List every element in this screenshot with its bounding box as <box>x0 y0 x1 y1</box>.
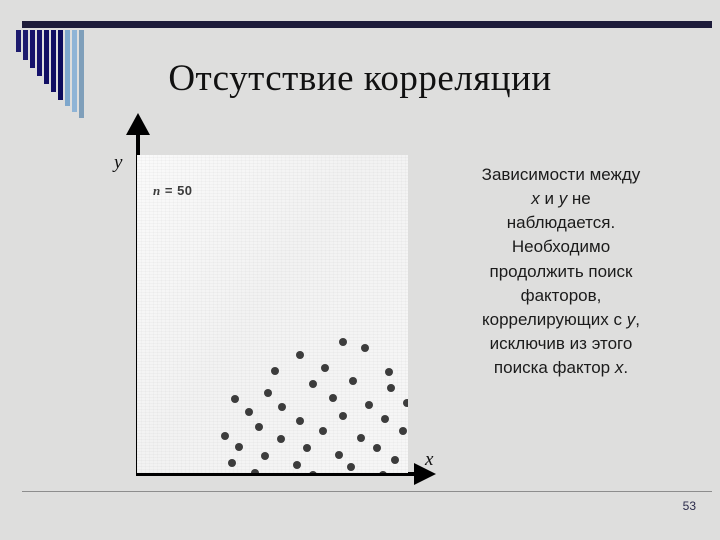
scatter-point <box>264 389 272 397</box>
scatter-point <box>245 408 253 416</box>
scatter-point <box>309 471 317 473</box>
scatter-point <box>278 403 286 411</box>
scatter-point <box>251 469 259 473</box>
scatter-point <box>357 434 365 442</box>
scatter-point <box>231 395 239 403</box>
commentary-line-3: наблюдается. <box>507 213 615 232</box>
commentary-line-2-mid: и <box>540 189 559 208</box>
scatter-point <box>339 412 347 420</box>
scatter-point <box>385 368 393 376</box>
decorative-bar-1 <box>16 30 21 52</box>
commentary-line-1: Зависимости между <box>482 165 641 184</box>
scatter-point <box>221 432 229 440</box>
scatter-point <box>329 394 337 402</box>
scatter-point <box>349 377 357 385</box>
scatter-point <box>277 435 285 443</box>
commentary-text: Зависимости между x и y не наблюдается. … <box>430 163 692 380</box>
top-accent-rule <box>22 21 712 28</box>
scatter-point <box>379 471 387 473</box>
scatter-point <box>293 461 301 469</box>
sample-size-annotation: n = 50 <box>153 183 193 199</box>
commentary-line-5: продолжить поиск <box>490 262 633 281</box>
scatter-point <box>296 417 304 425</box>
commentary-line-9-post: . <box>623 358 628 377</box>
bottom-divider <box>22 491 712 492</box>
commentary-var-y-2: y <box>627 310 636 329</box>
commentary-var-y-1: y <box>559 189 568 208</box>
scatter-point <box>271 367 279 375</box>
commentary-var-x-1: x <box>531 189 540 208</box>
scatter-point <box>235 443 243 451</box>
scatter-point <box>335 451 343 459</box>
scatter-point <box>303 444 311 452</box>
scatter-point <box>228 459 236 467</box>
scatter-point <box>319 427 327 435</box>
scatter-point <box>321 364 329 372</box>
commentary-line-6: факторов, <box>521 286 602 305</box>
scatter-point <box>387 384 395 392</box>
slide-root: Отсутствие корреляции y x n = 50 Зависим… <box>0 0 720 540</box>
scatter-point <box>391 456 399 464</box>
commentary-line-9-pre: поиска фактор <box>494 358 615 377</box>
page-number: 53 <box>683 499 696 513</box>
scatter-point <box>296 351 304 359</box>
sample-size-value: = 50 <box>165 183 193 198</box>
scatter-point <box>403 399 408 407</box>
commentary-line-7-post: , <box>635 310 640 329</box>
decorative-bar-2 <box>23 30 28 60</box>
scatter-point <box>361 344 369 352</box>
commentary-line-7-pre: коррелирующих с <box>482 310 627 329</box>
scatter-point <box>373 444 381 452</box>
commentary-line-4: Необходимо <box>512 237 610 256</box>
scatter-point <box>255 423 263 431</box>
scatter-point <box>339 338 347 346</box>
commentary-line-2-post: не <box>567 189 591 208</box>
panel-paper-texture <box>137 155 408 473</box>
scatter-point <box>399 427 407 435</box>
x-axis-label: x <box>425 449 433 471</box>
scatter-point <box>309 380 317 388</box>
commentary-line-8: исключив из этого <box>490 334 633 353</box>
sample-size-symbol: n <box>153 183 161 198</box>
scatter-plot-panel: n = 50 <box>137 155 408 473</box>
scatter-point <box>365 401 373 409</box>
y-axis-label: y <box>114 152 122 174</box>
scatter-point <box>347 463 355 471</box>
scatter-point <box>381 415 389 423</box>
page-title: Отсутствие корреляции <box>0 60 720 99</box>
scatter-point <box>261 452 269 460</box>
